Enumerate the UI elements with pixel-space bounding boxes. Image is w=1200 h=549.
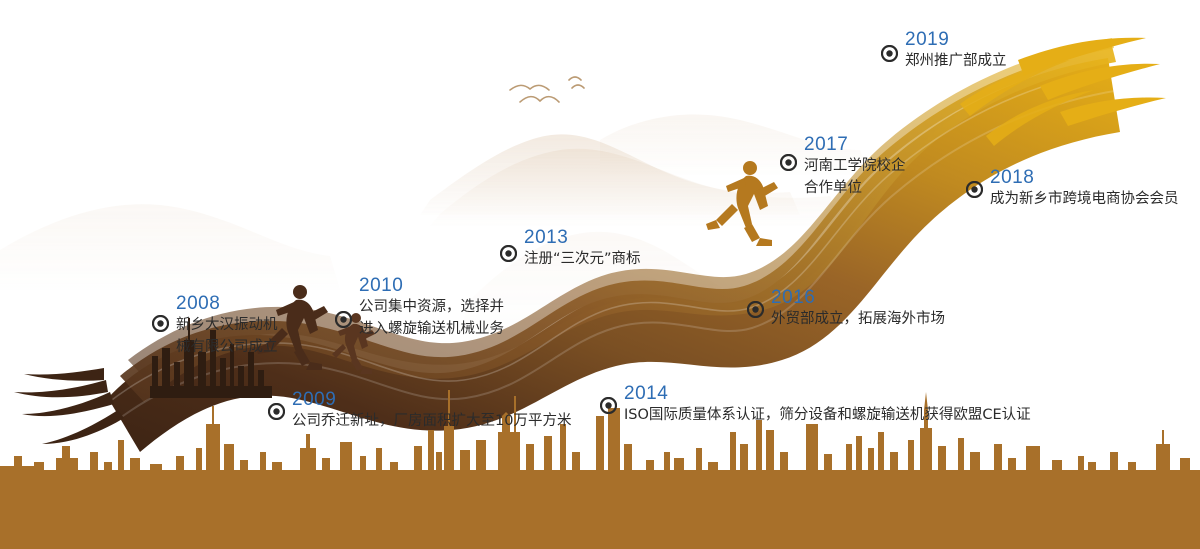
target-marker-icon	[335, 311, 352, 328]
milestone-2008[interactable]: 2008 新乡大汉振动机 械有限公司成立	[152, 293, 278, 358]
milestone-desc-line: 新乡大汉振动机	[176, 314, 278, 336]
milestone-desc-line: ISO国际质量体系认证，筛分设备和螺旋输送机获得欧盟CE认证	[624, 404, 1031, 426]
milestone-year: 2017	[804, 134, 906, 155]
milestone-2017[interactable]: 2017 河南工学院校企 合作单位	[780, 134, 906, 199]
milestone-desc-line: 注册“三次元”商标	[524, 248, 641, 270]
milestone-2013[interactable]: 2013 注册“三次元”商标	[500, 227, 641, 270]
timeline-artwork	[0, 0, 1200, 549]
milestone-year: 2016	[771, 287, 945, 308]
milestone-desc-line: 外贸部成立，拓展海外市场	[771, 308, 945, 330]
milestone-year: 2014	[624, 383, 1031, 404]
milestone-year: 2010	[359, 275, 504, 296]
milestone-2009[interactable]: 2009 公司乔迁新址，厂房面积扩大至10万平方米	[268, 389, 571, 432]
milestone-2010[interactable]: 2010 公司集中资源，选择并 进入螺旋输送机械业务	[335, 275, 504, 340]
target-marker-icon	[152, 315, 169, 332]
milestone-2018[interactable]: 2018 成为新乡市跨境电商协会会员	[966, 167, 1179, 210]
milestone-desc-line: 郑州推广部成立	[905, 50, 1007, 72]
target-marker-icon	[966, 181, 983, 198]
milestone-year: 2009	[292, 389, 571, 410]
milestone-desc-line: 成为新乡市跨境电商协会会员	[990, 188, 1179, 210]
milestone-desc-line: 械有限公司成立	[176, 336, 278, 358]
milestone-desc-line: 公司乔迁新址，厂房面积扩大至10万平方米	[292, 410, 571, 432]
milestone-2016[interactable]: 2016 外贸部成立，拓展海外市场	[747, 287, 945, 330]
milestone-2014[interactable]: 2014 ISO国际质量体系认证，筛分设备和螺旋输送机获得欧盟CE认证	[600, 383, 1031, 426]
target-marker-icon	[747, 301, 764, 318]
milestone-year: 2013	[524, 227, 641, 248]
milestone-year: 2019	[905, 29, 1007, 50]
target-marker-icon	[268, 403, 285, 420]
target-marker-icon	[500, 245, 517, 262]
milestone-year: 2018	[990, 167, 1179, 188]
milestone-2019[interactable]: 2019 郑州推广部成立	[881, 29, 1007, 72]
target-marker-icon	[780, 154, 797, 171]
flying-birds	[510, 77, 584, 102]
milestone-year: 2008	[176, 293, 278, 314]
milestone-desc-line: 公司集中资源，选择并	[359, 296, 504, 318]
target-marker-icon	[600, 397, 617, 414]
milestone-desc-line: 河南工学院校企	[804, 155, 906, 177]
milestone-desc-line: 合作单位	[804, 177, 906, 199]
timeline-infographic: 2008 新乡大汉振动机 械有限公司成立 2009 公司乔迁新址，厂房面积扩大至…	[0, 0, 1200, 549]
target-marker-icon	[881, 45, 898, 62]
milestone-desc-line: 进入螺旋输送机械业务	[359, 318, 504, 340]
